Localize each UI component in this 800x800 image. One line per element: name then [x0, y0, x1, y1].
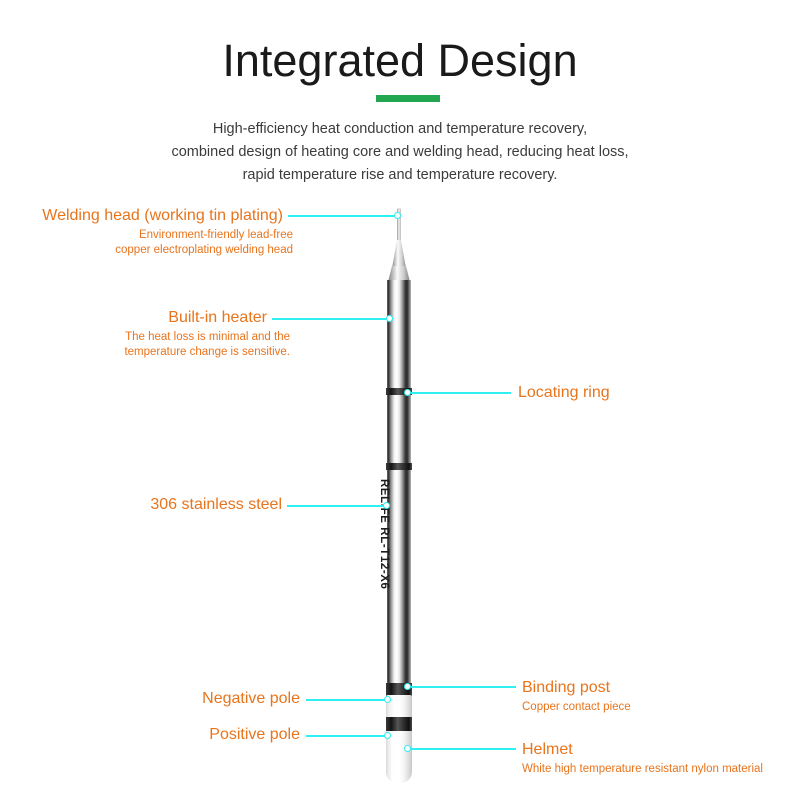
- callout-sub-helmet: White high temperature resistant nylon m…: [522, 762, 763, 777]
- callout-sub-line: The heat loss is minimal and the: [0, 330, 290, 345]
- mid-barrel-part: [387, 395, 411, 465]
- main-barrel-part: [387, 470, 411, 685]
- callout-label-negative-pole: Negative pole: [0, 689, 300, 709]
- leader-line-positive-pole: [306, 735, 388, 737]
- leader-dot-helmet: [404, 745, 411, 752]
- callout-label-positive-pole: Positive pole: [0, 725, 300, 745]
- callout-sub-built-in-heater: The heat loss is minimal and the tempera…: [0, 330, 290, 359]
- subtitle-line-1: High-efficiency heat conduction and temp…: [0, 118, 800, 141]
- subtitle-line-2: combined design of heating core and weld…: [0, 141, 800, 164]
- page-title: Integrated Design: [0, 32, 800, 90]
- callout-sub-binding-post: Copper contact piece: [522, 700, 631, 715]
- callout-sub-line: Environment-friendly lead-free: [0, 228, 293, 243]
- leader-line-stainless-steel: [287, 505, 387, 507]
- leader-line-binding-post: [411, 686, 516, 688]
- callout-label-built-in-heater: Built-in heater: [0, 308, 267, 328]
- mid-ring-part: [386, 463, 412, 470]
- leader-line-built-in-heater: [272, 318, 390, 320]
- helmet-sheen: [391, 731, 394, 783]
- leader-line-locating-ring: [411, 392, 511, 394]
- leader-line-welding-head: [288, 215, 398, 217]
- callout-label-binding-post: Binding post: [522, 678, 610, 698]
- leader-dot-built-in-heater: [386, 315, 393, 322]
- leader-dot-stainless-steel: [383, 502, 390, 509]
- subtitle-line-3: rapid temperature rise and temperature r…: [0, 164, 800, 187]
- callout-label-stainless-steel: 306 stainless steel: [0, 495, 282, 515]
- leader-dot-binding-post: [404, 683, 411, 690]
- product-illustration: RELIFE RL-T12-X6: [370, 200, 428, 785]
- leader-line-negative-pole: [306, 699, 388, 701]
- callout-sub-welding-head: Environment-friendly lead-free copper el…: [0, 228, 293, 257]
- leader-dot-locating-ring: [404, 389, 411, 396]
- callout-label-locating-ring: Locating ring: [518, 383, 610, 403]
- page-subtitle: High-efficiency heat conduction and temp…: [0, 118, 800, 187]
- tip-cone-part: [392, 240, 406, 268]
- callout-sub-line: White high temperature resistant nylon m…: [522, 762, 763, 777]
- callout-sub-line: Copper contact piece: [522, 700, 631, 715]
- leader-line-helmet: [411, 748, 516, 750]
- leader-dot-negative-pole: [384, 696, 391, 703]
- callout-label-helmet: Helmet: [522, 740, 573, 760]
- callout-sub-line: copper electroplating welding head: [0, 243, 293, 258]
- callout-sub-line: temperature change is sensitive.: [0, 345, 290, 360]
- leader-dot-positive-pole: [384, 732, 391, 739]
- infographic-canvas: Integrated Design High-efficiency heat c…: [0, 0, 800, 800]
- title-accent-bar: [376, 95, 440, 102]
- helmet-part: [386, 731, 412, 783]
- leader-dot-welding-head: [394, 212, 401, 219]
- callout-label-welding-head: Welding head (working tin plating): [0, 206, 283, 226]
